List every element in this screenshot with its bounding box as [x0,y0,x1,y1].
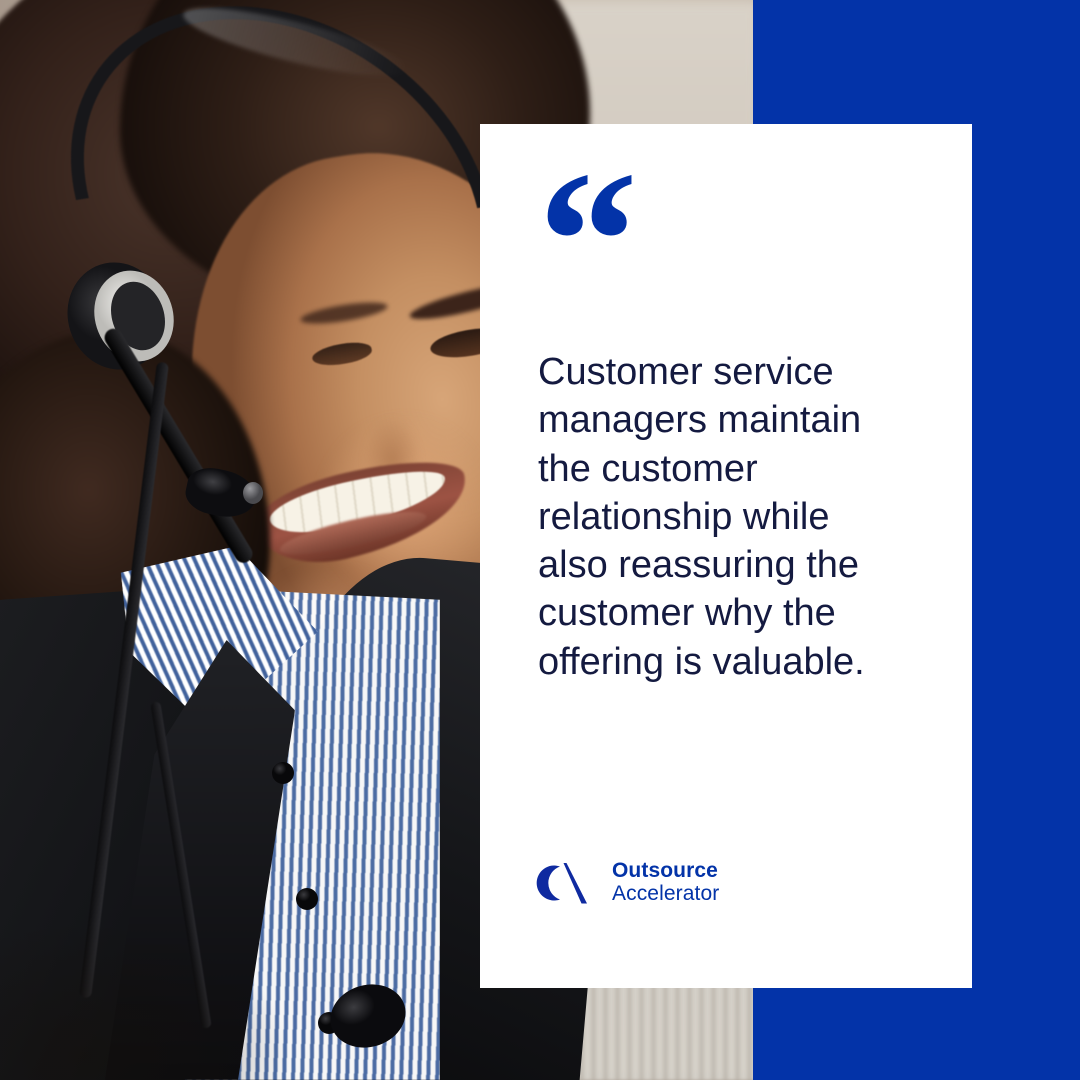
brand-logo[interactable]: Outsource Accelerator [536,859,719,907]
logo-line-accelerator: Accelerator [612,883,719,906]
photo-shirt-button [272,762,294,784]
logo-wordmark: Outsource Accelerator [612,860,719,905]
social-quote-card: “ Customer service managers maintain the… [0,0,1080,1080]
quotation-mark-icon: “ [538,142,632,342]
quote-card: “ Customer service managers maintain the… [480,124,972,988]
photo-headset-microphone-tip [243,482,263,504]
logo-line-outsource: Outsource [612,860,719,883]
outsource-accelerator-monogram-icon [536,859,598,907]
photo-shadow [0,840,420,1080]
quote-text: Customer service managers maintain the c… [538,348,898,686]
